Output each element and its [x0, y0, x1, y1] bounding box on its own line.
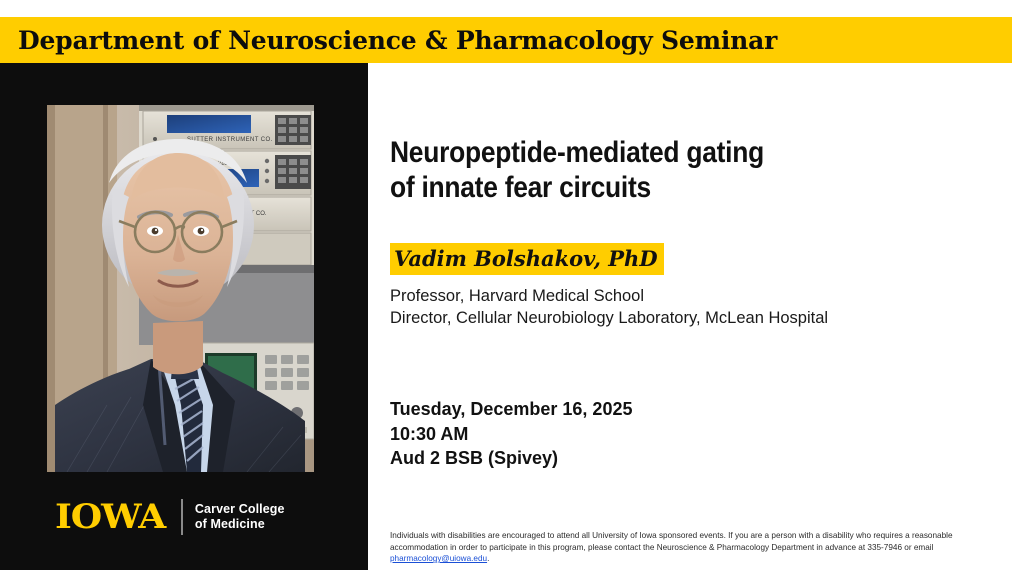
speaker-photo-illustration: SUTTER INSTRUMENT CO. MP-285 INSTRUMENT … [47, 105, 314, 472]
speaker-photo: SUTTER INSTRUMENT CO. MP-285 INSTRUMENT … [47, 105, 314, 472]
iowa-wordmark: IOWA [55, 500, 165, 534]
affiliation-line-2: Director, Cellular Neurobiology Laborato… [390, 307, 1010, 329]
talk-title: Neuropeptide-mediated gating of innate f… [390, 135, 1006, 205]
talk-title-line-2: of innate fear circuits [390, 170, 1006, 205]
event-time: 10:30 AM [390, 422, 1010, 447]
seminar-poster: Department of Neuroscience & Pharmacolog… [0, 0, 1024, 576]
disclaimer-text-part-1: Individuals with disabilities are encour… [390, 531, 953, 552]
disclaimer-text-part-2: . [487, 554, 489, 563]
iowa-logo: IOWA Carver College of Medicine [55, 497, 285, 537]
college-line-1: Carver College [195, 502, 285, 516]
banner-title: Department of Neuroscience & Pharmacolog… [18, 24, 1008, 58]
talk-title-line-1: Neuropeptide-mediated gating [390, 135, 1006, 170]
speaker-block: Vadim Bolshakov, PhD Professor, Harvard … [390, 243, 1010, 329]
event-details: Tuesday, December 16, 2025 10:30 AM Aud … [390, 397, 1010, 471]
affiliation-line-1: Professor, Harvard Medical School [390, 285, 1010, 307]
logo-divider [181, 499, 183, 535]
event-date: Tuesday, December 16, 2025 [390, 397, 1010, 422]
content-column: Neuropeptide-mediated gating of innate f… [390, 63, 1010, 471]
college-name: Carver College of Medicine [195, 502, 285, 532]
accessibility-disclaimer: Individuals with disabilities are encour… [390, 530, 990, 565]
speaker-name: Vadim Bolshakov, PhD [390, 243, 664, 275]
speaker-affiliation: Professor, Harvard Medical School Direct… [390, 285, 1010, 329]
pharmacology-email-link[interactable]: pharmacology@uiowa.edu [390, 554, 487, 563]
college-line-2: of Medicine [195, 517, 265, 531]
event-location: Aud 2 BSB (Spivey) [390, 446, 1010, 471]
